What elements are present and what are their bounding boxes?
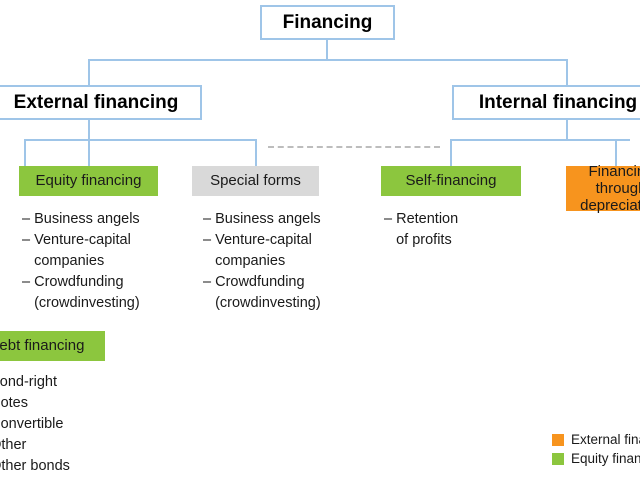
legend-label-equity-financing: Equity financing [571,451,640,466]
diagram-canvas: Financing External financing Internal fi… [0,0,640,480]
connector-external-stem [88,120,90,140]
category-special-forms: Special forms [192,166,319,196]
category-financing-through-depreciation: Financing through depreciation [566,166,640,211]
connector-to-external [88,59,90,87]
connector-to-self-financing [450,139,452,166]
category-equity-financing: Equity financing [19,166,158,196]
connector-to-internal [566,59,568,87]
list-equity-financing: – Business angels – Venture-capital comp… [22,209,140,314]
connector-internal-stem [566,120,568,140]
legend-item-equity-financing: Equity financing [552,451,640,466]
connector-to-debt-financing [24,139,26,166]
list-debt-financing: – Bond-right – Notes – Convertible – Oth… [0,372,70,477]
connector-root-horizontal [88,59,568,61]
category-self-financing: Self-financing [381,166,521,196]
connector-to-equity-financing [88,139,90,166]
legend: External financing Equity financing [552,432,640,470]
legend-swatch-orange-icon [552,434,564,446]
legend-label-external-financing: External financing [571,432,640,447]
connector-external-horizontal [24,139,256,141]
list-self-financing: – Retention of profits [384,209,458,251]
legend-item-external-financing: External financing [552,432,640,447]
dashed-divider [268,146,440,148]
connector-to-special-forms [255,139,257,166]
legend-swatch-green-icon [552,453,564,465]
root-node-financing: Financing [260,5,395,40]
connector-internal-horizontal [450,139,630,141]
category-debt-financing: Debt financing [0,331,105,361]
level2-node-internal-financing: Internal financing [452,85,640,120]
list-special-forms: – Business angels – Venture-capital comp… [203,209,321,314]
level2-node-external-financing: External financing [0,85,202,120]
connector-root-stem [326,40,328,60]
